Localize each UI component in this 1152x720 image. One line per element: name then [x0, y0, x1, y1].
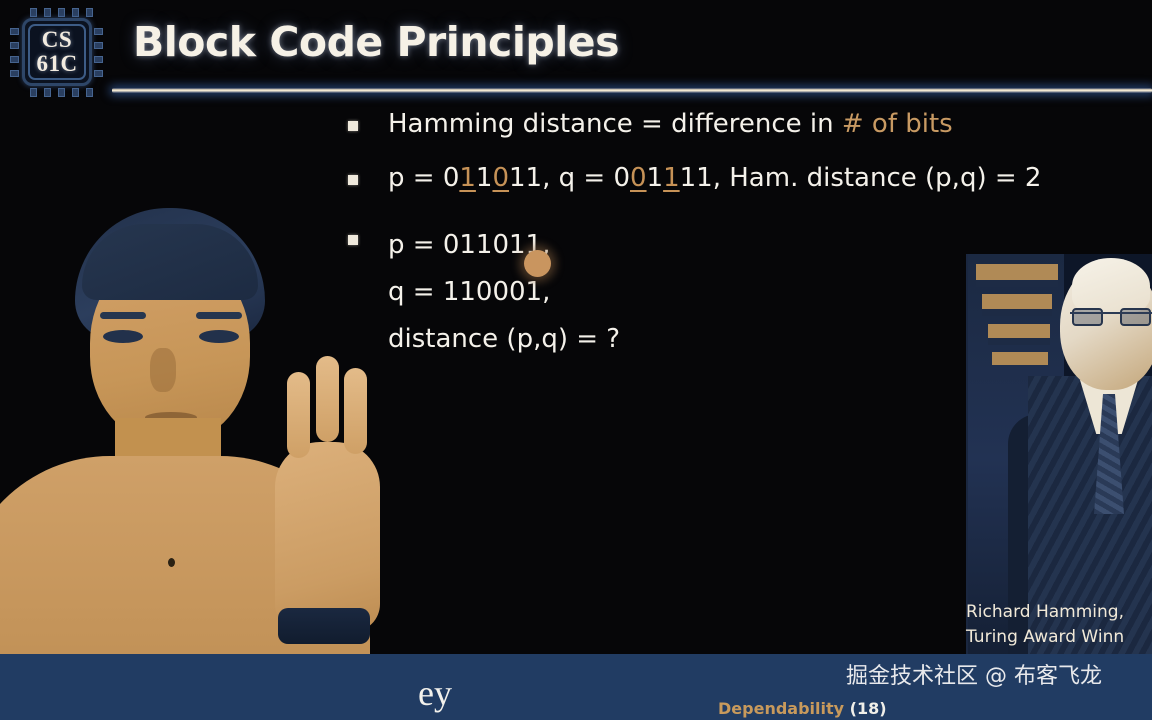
- chip-pin: [58, 88, 65, 97]
- bullet-segment: p = 0: [388, 163, 459, 193]
- bullet-hamming-distance: Hamming distance = difference in # of bi…: [348, 108, 1152, 140]
- bullet-segment: 11, Ham. distance (p,q) = 2: [680, 163, 1042, 193]
- chip-pin: [94, 70, 103, 77]
- shelf-books: [988, 324, 1050, 338]
- bit-highlight: 0: [492, 163, 509, 193]
- shelf-divider: [988, 338, 1050, 345]
- page-title: Block Code Principles: [133, 18, 619, 66]
- cs61c-chip-logo: CS 61C: [8, 6, 104, 98]
- chip-pin: [30, 88, 37, 97]
- chip-pin: [44, 88, 51, 97]
- presenter-nose: [150, 348, 176, 392]
- bullet-segment-highlight: # of bits: [842, 109, 953, 139]
- chip-pin: [58, 8, 65, 17]
- hamming-glasses-bridge: [1070, 312, 1152, 327]
- presenter-eyebrow-right: [196, 312, 242, 319]
- slide-canvas: CS 61C Block Code Principles Hamming dis…: [0, 0, 1152, 720]
- site-watermark: 掘金技术社区 @ 布客飞龙: [846, 658, 1102, 690]
- finger-index: [287, 372, 310, 458]
- chip-pin: [94, 28, 103, 35]
- shelf-books: [976, 264, 1058, 280]
- presenter-chest-mark: [168, 558, 175, 567]
- bullet-square-icon: [348, 175, 358, 185]
- presenter-video-overlay: [0, 190, 440, 720]
- berkeley-wordmark: ey: [418, 672, 452, 714]
- chip-pin: [10, 70, 19, 77]
- presenter-eye-left: [103, 330, 143, 343]
- bullet-example-pq: p = 011011, q = 001111, Ham. distance (p…: [348, 162, 1152, 194]
- presenter-hair-front: [82, 224, 258, 300]
- hamming-caption: Richard Hamming, Turing Award Winn: [966, 600, 1152, 650]
- hamming-caption-line-1: Richard Hamming,: [966, 600, 1152, 625]
- finger-ring: [344, 368, 367, 454]
- chip-pin: [10, 28, 19, 35]
- bit-highlight: 0: [630, 163, 647, 193]
- presenter-raised-hand: [275, 442, 380, 632]
- chip-pin: [94, 56, 103, 63]
- chip-pin: [72, 88, 79, 97]
- bullet-segment: Hamming distance = difference in: [388, 109, 842, 139]
- presenter-eye-right: [199, 330, 239, 343]
- footer-deck-label: Dependability (18): [718, 699, 887, 718]
- logo-line-1: CS: [42, 28, 72, 52]
- slide-number: (18): [850, 699, 887, 718]
- bit-highlight: 1: [663, 163, 680, 193]
- chip-pin: [86, 88, 93, 97]
- chip-pin: [86, 8, 93, 17]
- bit-highlight: 1: [459, 163, 476, 193]
- chip-pin: [44, 8, 51, 17]
- presenter-wristwatch: [278, 608, 370, 644]
- chip-logo-text: CS 61C: [28, 23, 86, 81]
- chip-pin: [10, 56, 19, 63]
- bullet-segment: 1: [647, 163, 664, 193]
- presenter-eyebrow-left: [100, 312, 146, 319]
- bullet-text: Hamming distance = difference in # of bi…: [388, 108, 1152, 140]
- shelf-books: [992, 352, 1048, 365]
- bullet-square-icon: [348, 121, 358, 131]
- hamming-caption-line-2: Turing Award Winn: [966, 625, 1152, 650]
- chip-pin: [72, 8, 79, 17]
- hamming-forehead: [1072, 258, 1150, 314]
- bullet-text: p = 011011, q = 001111, Ham. distance (p…: [388, 162, 1152, 194]
- shelf-divider: [976, 280, 1058, 287]
- title-divider: [112, 88, 1152, 93]
- chip-pin: [10, 42, 19, 49]
- laser-pointer-dot: [524, 250, 551, 277]
- finger-middle: [316, 356, 339, 442]
- chip-pin: [30, 8, 37, 17]
- shelf-divider: [982, 309, 1052, 316]
- deck-name: Dependability: [718, 699, 844, 718]
- chip-pin: [94, 42, 103, 49]
- shelf-books: [982, 294, 1052, 309]
- bullet-segment: 11, q = 0: [509, 163, 630, 193]
- bullet-segment: 1: [476, 163, 493, 193]
- logo-line-2: 61C: [36, 52, 77, 76]
